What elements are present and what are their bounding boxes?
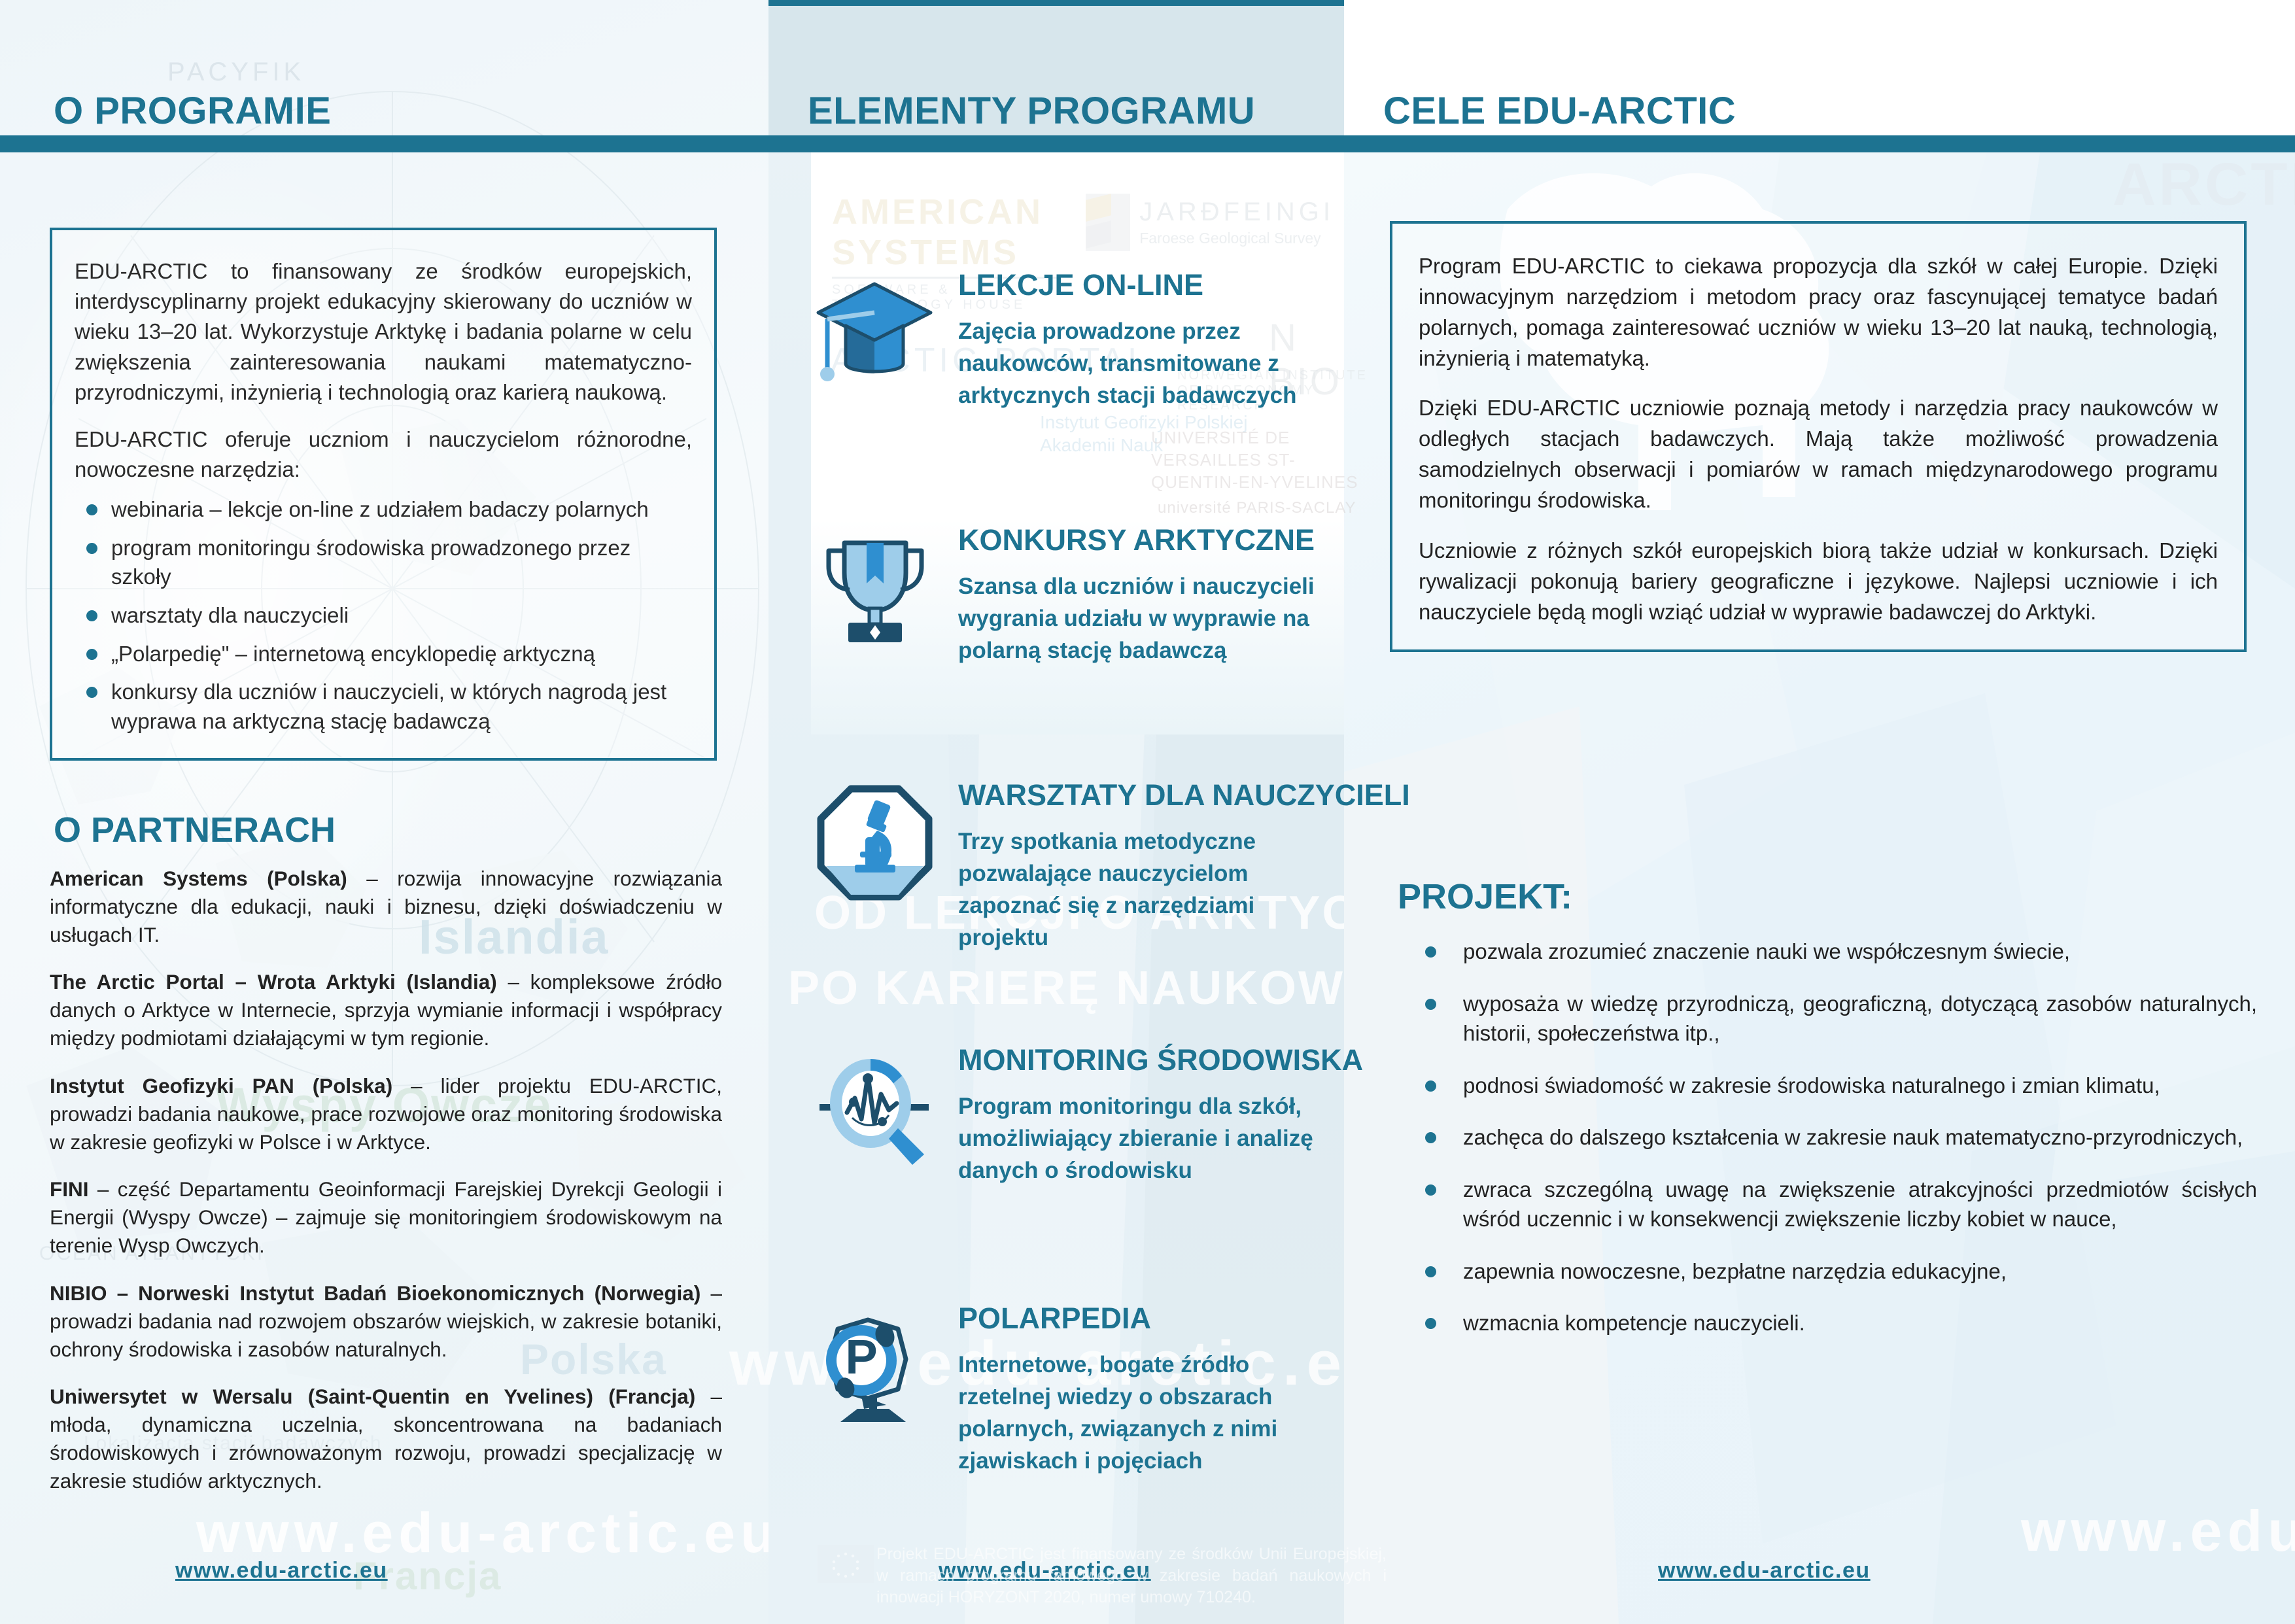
partner-name: NIBIO – Norweski Instytut Badań Bioekono…	[50, 1281, 700, 1305]
jardfeingi-logo-name: JARÐFEINGI	[1139, 198, 1334, 227]
svg-text:P: P	[845, 1330, 877, 1384]
list-item: konkursy dla uczniów i nauczycieli, w kt…	[75, 678, 692, 736]
partner-name: Uniwersytet w Wersalu (Saint-Quentin en …	[50, 1385, 695, 1408]
jardfeingi-logo: JARÐFEINGI Faroese Geological Survey	[1086, 193, 1334, 252]
graduation-cap-icon	[814, 272, 935, 393]
goals-paragraph-3: Uczniowie z różnych szkół europejskich b…	[1419, 536, 2218, 628]
page-title-o-programie: O PROGRAMIE	[54, 89, 331, 133]
footer-url-right[interactable]: www.edu-arctic.eu	[1658, 1558, 1871, 1583]
list-item: pozwala zrozumieć znaczenie nauki we wsp…	[1407, 937, 2257, 967]
item-title: MONITORING ŚRODOWISKA	[958, 1043, 1363, 1077]
jardfeingi-mark	[1086, 193, 1130, 252]
list-item: „Polarpedię" – internetową encyklopedię …	[75, 640, 692, 669]
partner-entry: Instytut Geofizyki PAN (Polska) – lider …	[50, 1072, 722, 1156]
tools-list: webinaria – lekcje on-line z udziałem ba…	[75, 495, 692, 736]
item-description: Program monitoringu dla szkół, umożliwia…	[958, 1090, 1324, 1186]
partner-entry: FINI – część Departamentu Geoinformacji …	[50, 1175, 722, 1259]
goals-box: Program EDU-ARCTIC to ciekawa propozycja…	[1390, 221, 2247, 652]
partner-entry: American Systems (Polska) – rozwija inno…	[50, 865, 722, 948]
partner-desc: – część Departamentu Geoinformacji Farej…	[50, 1177, 722, 1257]
left-header-rule	[0, 135, 768, 152]
item-title: LEKCJE ON-LINE	[958, 268, 1203, 302]
partner-name: The Arctic Portal – Wrota Arktyki (Islan…	[50, 970, 497, 993]
goals-paragraph-1: Program EDU-ARCTIC to ciekawa propozycja…	[1419, 251, 2218, 373]
list-item: zwraca szczególną uwagę na zwiększenie a…	[1407, 1175, 2257, 1234]
partners-list: American Systems (Polska) – rozwija inno…	[50, 865, 722, 1495]
list-item: wyposaża w wiedzę przyrodniczą, geografi…	[1407, 989, 2257, 1048]
paris-saclay-logo: université PARIS-SACLAY	[1158, 499, 1373, 517]
partner-entry: Uniwersytet w Wersalu (Saint-Quentin en …	[50, 1383, 722, 1494]
trophy-icon	[814, 527, 935, 648]
list-item: program monitoringu środowiska prowadzon…	[75, 534, 692, 592]
project-bullets-list: pozwala zrozumieć znaczenie nauki we wsp…	[1407, 937, 2257, 1338]
partner-entry: The Arctic Portal – Wrota Arktyki (Islan…	[50, 968, 722, 1052]
item-description: Internetowe, bogate źródło rzetelnej wie…	[958, 1349, 1324, 1477]
microscope-icon	[814, 782, 935, 903]
partner-name: American Systems (Polska)	[50, 867, 347, 890]
partner-name: Instytut Geofizyki PAN (Polska)	[50, 1074, 392, 1097]
item-title: POLARPEDIA	[958, 1302, 1151, 1336]
list-item: zapewnia nowoczesne, bezpłatne narzędzia…	[1407, 1256, 2257, 1287]
uvsq-logo: UNIVERSITÉ DE VERSAILLES ST-QUENTIN-EN-Y…	[1151, 427, 1373, 493]
partner-entry: NIBIO – Norweski Instytut Badań Bioekono…	[50, 1279, 722, 1363]
partners-heading: O PARTNERACH	[54, 810, 336, 850]
item-title: KONKURSY ARKTYCZNE	[958, 523, 1315, 557]
about-program-box: EDU-ARCTIC to finansowany ze środków eur…	[50, 228, 717, 761]
list-item: podnosi świadomość w zakresie środowiska…	[1407, 1071, 2257, 1101]
list-item: zachęca do dalszego kształcenia w zakres…	[1407, 1122, 2257, 1152]
list-item: webinaria – lekcje on-line z udziałem ba…	[75, 495, 692, 525]
item-description: Zajęcia prowadzone przez naukowców, tran…	[958, 315, 1324, 411]
list-item: wzmacnia kompetencje nauczycieli.	[1407, 1308, 2257, 1338]
right-header-rule	[1344, 135, 2295, 152]
eu-funding-disclaimer: Projekt EDU-ARCTIC jest finansowany ze ś…	[876, 1544, 1387, 1608]
footer-url-left[interactable]: www.edu-arctic.eu	[175, 1558, 388, 1583]
column-goals: CELE EDU-ARCTIC Program EDU-ARCTIC to ci…	[1344, 0, 2295, 1624]
column-about-program: O PROGRAMIE EDU-ARCTIC to finansowany ze…	[0, 0, 768, 1624]
middle-header-rule	[768, 135, 1344, 152]
project-heading: PROJEKT:	[1398, 876, 1572, 917]
magnifier-chart-icon	[814, 1047, 935, 1168]
partner-name: FINI	[50, 1177, 89, 1201]
item-description: Szansa dla uczniów i nauczycieli wygrani…	[958, 570, 1324, 666]
page-title-cele-edu-arctic: CELE EDU-ARCTIC	[1383, 89, 1736, 133]
globe-p-icon: P	[814, 1305, 935, 1426]
page-title-elementy-programu: ELEMENTY PROGRAMU	[808, 89, 1255, 133]
list-item: warsztaty dla nauczycieli	[75, 601, 692, 631]
about-paragraph-1: EDU-ARCTIC to finansowany ze środków eur…	[75, 256, 692, 407]
eu-flag-icon	[818, 1545, 874, 1583]
american-systems-logo-line1: AMERICAN SYSTEMS	[832, 192, 1061, 273]
about-paragraph-2: EDU-ARCTIC oferuje uczniom i nauczycielo…	[75, 424, 692, 485]
item-title: WARSZTATY DLA NAUCZYCIELI	[958, 778, 1410, 812]
item-description: Trzy spotkania metodyczne pozwalające na…	[958, 825, 1324, 954]
jardfeingi-logo-tagline: Faroese Geological Survey	[1139, 230, 1334, 247]
column-program-elements: ELEMENTY PROGRAMU AMERICAN SYSTEMS SOFTW…	[768, 0, 1344, 1624]
goals-paragraph-2: Dzięki EDU-ARCTIC uczniowie poznają meto…	[1419, 393, 2218, 515]
brochure-page: PACYFIK Islandia Wyspy Owcze OCEAN ATLAN…	[0, 0, 2295, 1624]
